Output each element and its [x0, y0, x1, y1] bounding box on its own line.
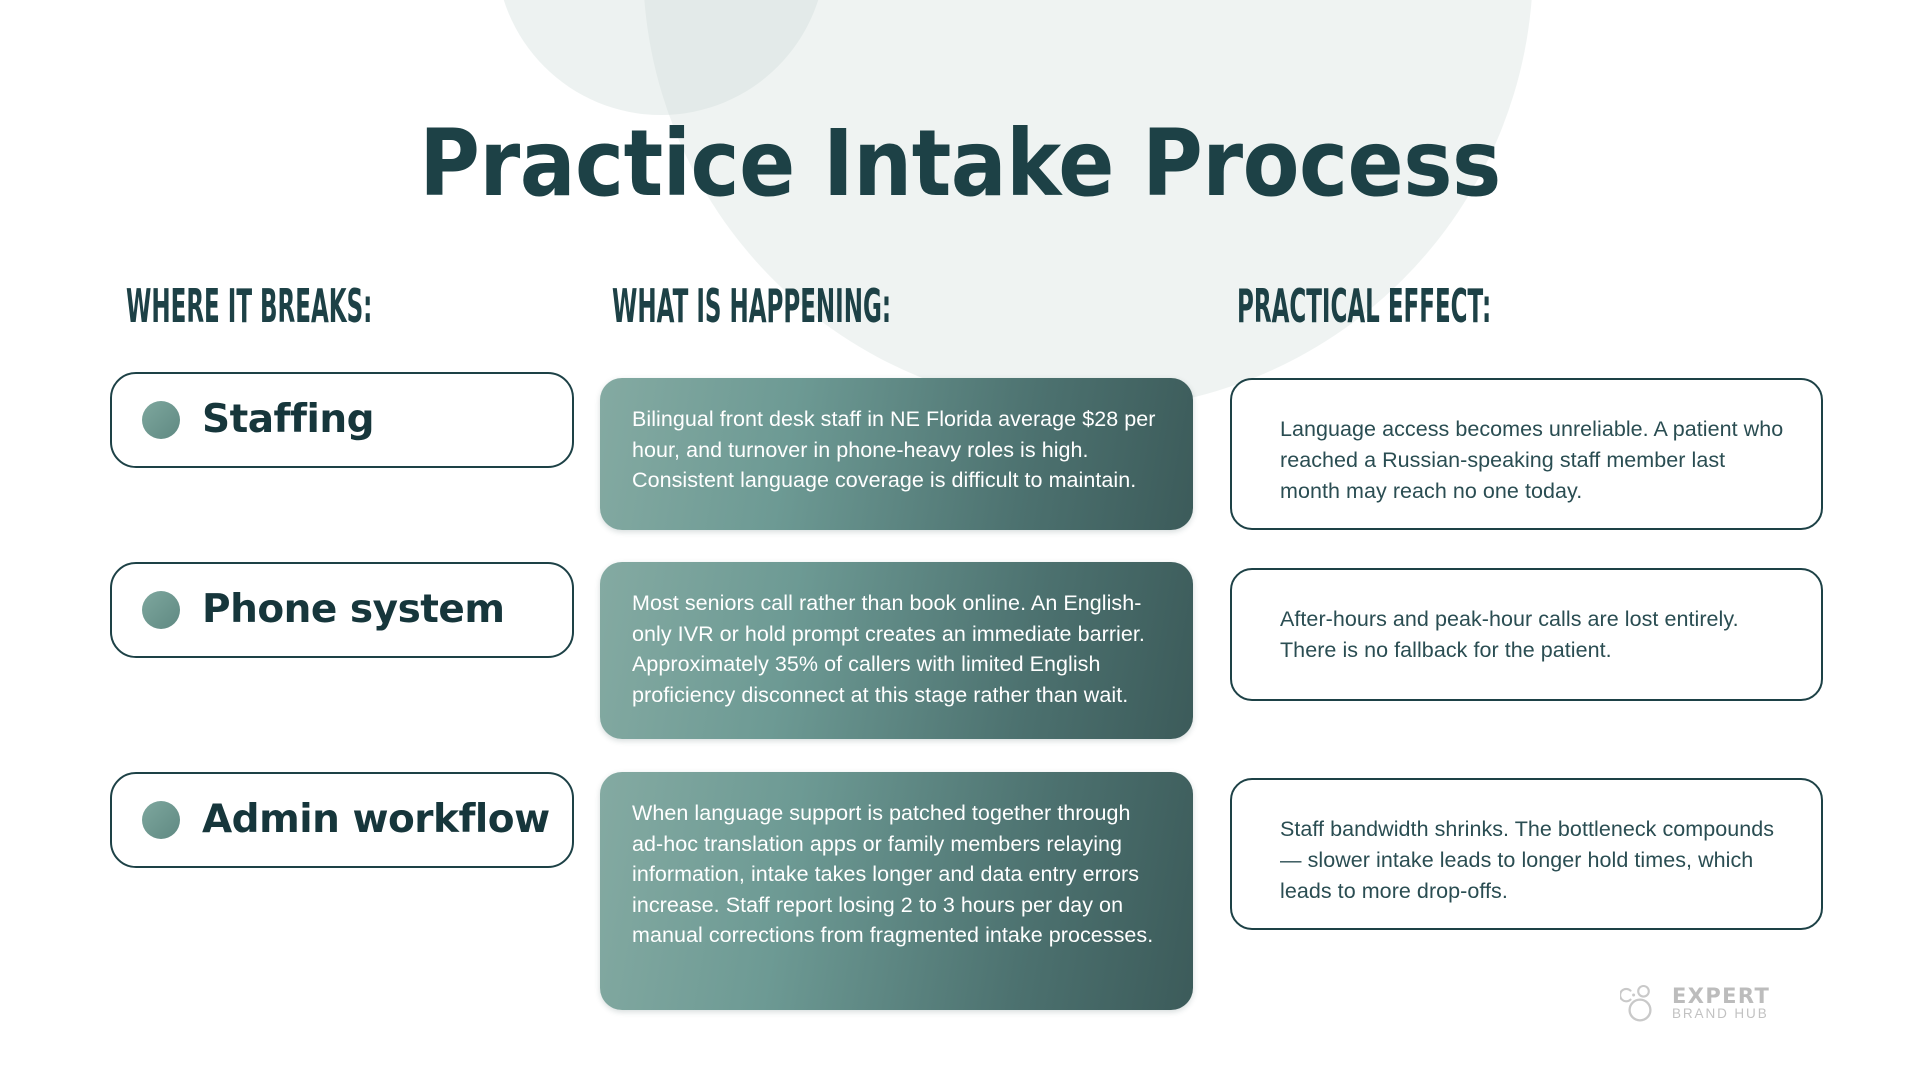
- logo-wordmark: EXPERT BRAND HUB: [1672, 986, 1770, 1022]
- comparison-board: WHERE IT BREAKS: WHAT IS HAPPENING: PRAC…: [0, 0, 1920, 1080]
- practical-effect-text: Language access becomes unreliable. A pa…: [1280, 414, 1785, 508]
- what-is-happening-text: When language support is patched togethe…: [632, 798, 1163, 951]
- practical-effect-card-admin-workflow: Staff bandwidth shrinks. The bottleneck …: [1230, 778, 1823, 930]
- status-dot-icon: [142, 591, 180, 629]
- what-is-happening-text: Most seniors call rather than book onlin…: [632, 588, 1163, 710]
- status-dot-icon: [142, 401, 180, 439]
- what-is-happening-card-staffing: Bilingual front desk staff in NE Florida…: [600, 378, 1193, 530]
- logo-tagline: BRAND HUB: [1672, 1007, 1770, 1022]
- practical-effect-card-staffing: Language access becomes unreliable. A pa…: [1230, 378, 1823, 530]
- breakpoint-pill-staffing[interactable]: Staffing: [110, 372, 574, 468]
- logo-name: EXPERT: [1672, 986, 1770, 1007]
- what-is-happening-card-phone-system: Most seniors call rather than book onlin…: [600, 562, 1193, 739]
- circles-logo-icon: [1620, 984, 1662, 1024]
- breakpoint-label: Admin workflow: [202, 800, 550, 841]
- column-header-practical-effect: PRACTICAL EFFECT:: [1237, 283, 1491, 329]
- breakpoint-pill-admin-workflow[interactable]: Admin workflow: [110, 772, 574, 868]
- brand-logo: EXPERT BRAND HUB: [1620, 984, 1770, 1024]
- practical-effect-card-phone-system: After-hours and peak-hour calls are lost…: [1230, 568, 1823, 701]
- breakpoint-label: Phone system: [202, 590, 505, 631]
- breakpoint-label: Staffing: [202, 400, 374, 441]
- breakpoint-pill-phone-system[interactable]: Phone system: [110, 562, 574, 658]
- practical-effect-text: After-hours and peak-hour calls are lost…: [1280, 604, 1785, 666]
- column-header-where-it-breaks: WHERE IT BREAKS:: [126, 283, 372, 329]
- status-dot-icon: [142, 801, 180, 839]
- what-is-happening-text: Bilingual front desk staff in NE Florida…: [632, 404, 1163, 496]
- practical-effect-text: Staff bandwidth shrinks. The bottleneck …: [1280, 814, 1785, 908]
- column-header-what-is-happening: WHAT IS HAPPENING:: [612, 283, 891, 329]
- what-is-happening-card-admin-workflow: When language support is patched togethe…: [600, 772, 1193, 1010]
